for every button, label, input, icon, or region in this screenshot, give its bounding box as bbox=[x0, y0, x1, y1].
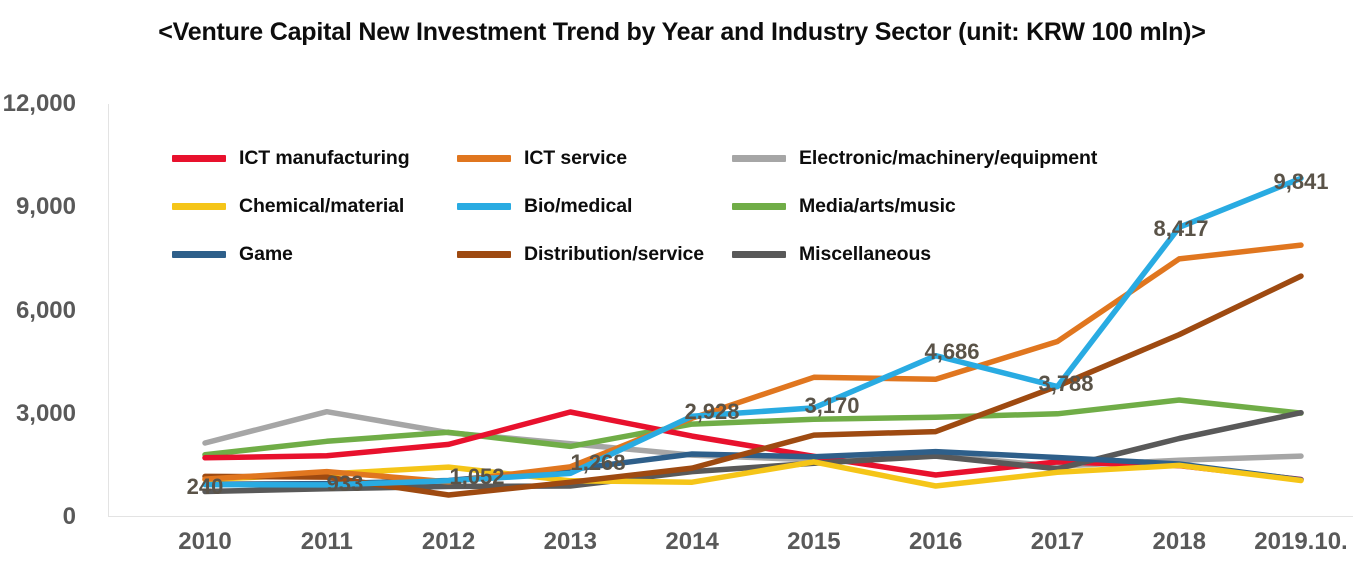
legend-color-swatch-icon bbox=[172, 155, 226, 162]
x-axis-tick: 2010 bbox=[178, 528, 231, 556]
x-axis-tick: 2018 bbox=[1153, 528, 1206, 556]
legend-item-label: Electronic/machinery/equipment bbox=[799, 147, 1097, 170]
page-title: <Venture Capital New Investment Trend by… bbox=[0, 18, 1364, 47]
data-point-label: 3,170 bbox=[804, 393, 859, 419]
legend-item-label: Miscellaneous bbox=[799, 243, 931, 266]
y-axis-tick: 0 bbox=[0, 503, 76, 531]
legend-item[interactable]: Distribution/service bbox=[457, 243, 732, 266]
x-axis-tick: 2017 bbox=[1031, 528, 1084, 556]
legend-item-label: ICT manufacturing bbox=[239, 147, 410, 170]
data-point-label: 933 bbox=[327, 471, 364, 497]
y-axis-tick: 9,000 bbox=[0, 193, 76, 221]
legend-color-swatch-icon bbox=[457, 251, 511, 258]
data-point-label: 1,268 bbox=[570, 450, 625, 476]
legend-item[interactable]: ICT manufacturing bbox=[172, 147, 457, 170]
x-axis-tick: 2011 bbox=[301, 528, 353, 556]
legend-color-swatch-icon bbox=[732, 203, 786, 210]
y-axis-tick: 3,000 bbox=[0, 400, 76, 428]
legend-item-label: Bio/medical bbox=[524, 195, 632, 218]
legend-item[interactable]: Game bbox=[172, 243, 457, 266]
x-axis-tick: 2015 bbox=[787, 528, 840, 556]
data-point-label: 1,052 bbox=[449, 464, 504, 490]
legend-color-swatch-icon bbox=[732, 155, 786, 162]
legend-item-label: Media/arts/music bbox=[799, 195, 956, 218]
legend-item[interactable]: Miscellaneous bbox=[732, 243, 1172, 266]
legend-color-swatch-icon bbox=[172, 203, 226, 210]
legend-item[interactable]: Media/arts/music bbox=[732, 195, 1172, 218]
legend-color-swatch-icon bbox=[172, 251, 226, 258]
legend-item[interactable]: Bio/medical bbox=[457, 195, 732, 218]
data-point-label: 3,788 bbox=[1038, 371, 1093, 397]
legend-item-label: Distribution/service bbox=[524, 243, 704, 266]
legend-item-label: ICT service bbox=[524, 147, 627, 170]
legend-color-swatch-icon bbox=[457, 203, 511, 210]
legend-item[interactable]: ICT service bbox=[457, 147, 732, 170]
legend-item-label: Game bbox=[239, 243, 293, 266]
legend-item-label: Chemical/material bbox=[239, 195, 404, 218]
data-point-label: 2,928 bbox=[684, 399, 739, 425]
data-point-label: 9,841 bbox=[1273, 169, 1328, 195]
legend-color-swatch-icon bbox=[457, 155, 511, 162]
chart-page: <Venture Capital New Investment Trend by… bbox=[0, 0, 1364, 588]
x-axis-tick: 2013 bbox=[544, 528, 597, 556]
legend-item[interactable]: Chemical/material bbox=[172, 195, 457, 218]
x-axis-tick: 2012 bbox=[422, 528, 475, 556]
x-axis-tick: 2014 bbox=[665, 528, 718, 556]
legend: ICT manufacturingICT serviceElectronic/m… bbox=[172, 134, 1172, 278]
legend-item[interactable]: Electronic/machinery/equipment bbox=[732, 147, 1172, 170]
legend-color-swatch-icon bbox=[732, 251, 786, 258]
x-axis-tick: 2016 bbox=[909, 528, 962, 556]
y-axis-tick: 6,000 bbox=[0, 297, 76, 325]
data-point-label: 8,417 bbox=[1153, 216, 1208, 242]
y-axis-tick: 12,000 bbox=[0, 90, 76, 118]
data-point-label: 240 bbox=[187, 474, 224, 500]
data-point-label: 4,686 bbox=[924, 339, 979, 365]
x-axis-tick: 2019.10. bbox=[1254, 528, 1347, 556]
